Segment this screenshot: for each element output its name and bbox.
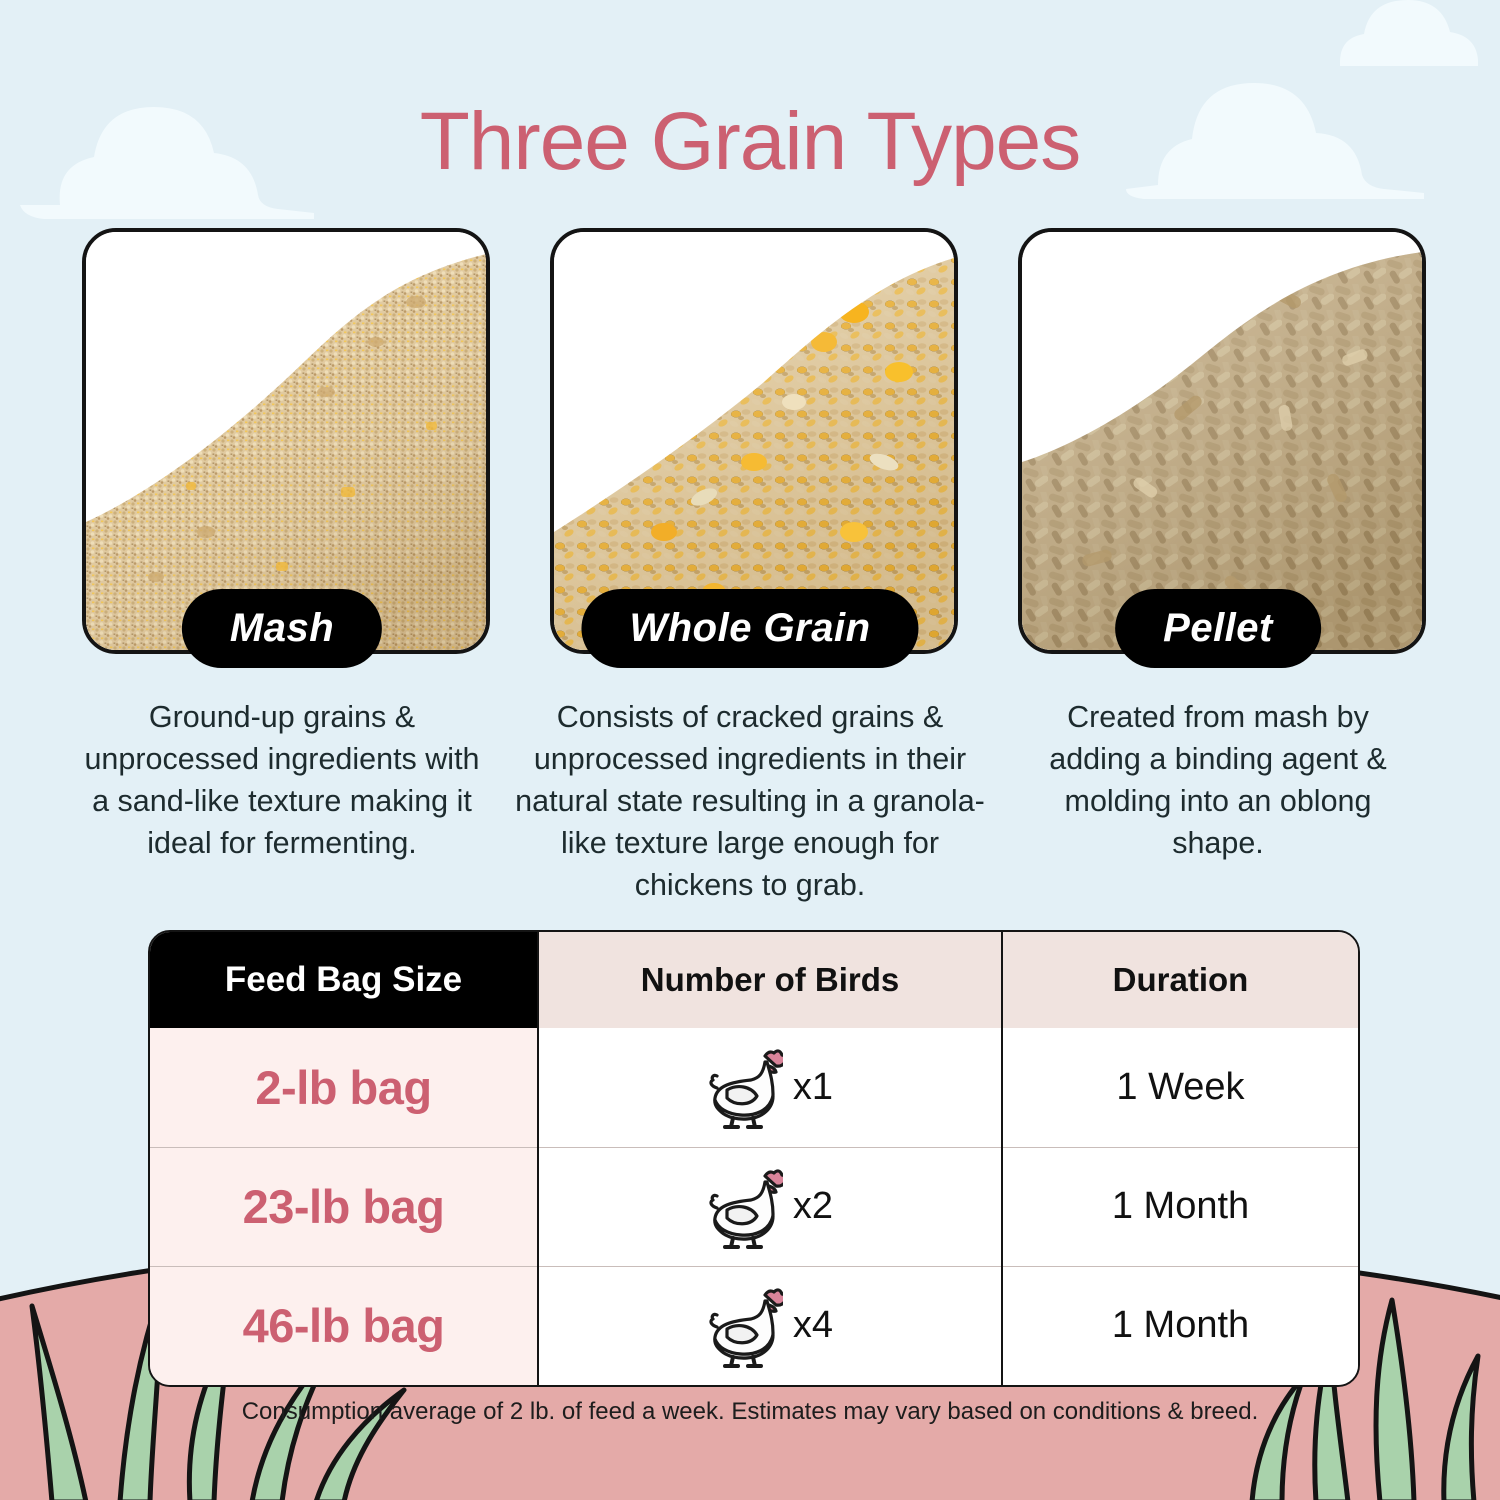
grain-card-mash[interactable]: Mash (82, 228, 482, 646)
column-header-feed-bag-size: Feed Bag Size (150, 932, 538, 1028)
grain-card-pellet[interactable]: Pellet (1018, 228, 1418, 646)
cell-number-of-birds: x4 (538, 1266, 1002, 1385)
cell-bag-size: 2-lb bag (150, 1028, 538, 1147)
pellet-photo (1022, 232, 1422, 650)
chicken-icon (707, 1164, 783, 1250)
grain-card-row: Mash (0, 228, 1500, 668)
cell-duration: 1 Month (1002, 1147, 1358, 1266)
grain-label-pellet: Pellet (1115, 589, 1321, 668)
chicken-icon (707, 1044, 783, 1130)
grain-label-whole-grain: Whole Grain (581, 589, 918, 668)
page-title: Three Grain Types (0, 95, 1500, 189)
chicken-icon (707, 1283, 783, 1369)
column-header-duration: Duration (1002, 932, 1358, 1028)
table-row: 2-lb bag (150, 1028, 1358, 1147)
grain-card-whole-grain[interactable]: Whole Grain (550, 228, 950, 646)
bird-count: x1 (793, 1066, 833, 1109)
column-header-number-of-birds: Number of Birds (538, 932, 1002, 1028)
feed-table: Feed Bag Size Number of Birds Duration 2… (148, 930, 1360, 1387)
bird-count: x4 (793, 1304, 833, 1347)
bird-count: x2 (793, 1185, 833, 1228)
grain-description-mash: Ground-up grains & unprocessed ingredien… (82, 696, 482, 906)
cell-duration: 1 Month (1002, 1266, 1358, 1385)
cell-bag-size: 23-lb bag (150, 1147, 538, 1266)
grain-description-whole-grain: Consists of cracked grains & unprocessed… (513, 696, 987, 906)
cell-bag-size: 46-lb bag (150, 1266, 538, 1385)
table-row: 23-lb bag (150, 1147, 1358, 1266)
grain-description-row: Ground-up grains & unprocessed ingredien… (0, 696, 1500, 906)
cloud-small-top (1340, 0, 1478, 66)
grain-label-mash: Mash (182, 589, 382, 668)
table-row: 46-lb bag (150, 1266, 1358, 1385)
mash-photo (86, 232, 486, 650)
infographic-root: Three Grain Types (0, 0, 1500, 1500)
grain-description-pellet: Created from mash by adding a binding ag… (1018, 696, 1418, 906)
cell-number-of-birds: x2 (538, 1147, 1002, 1266)
whole-grain-photo (554, 232, 954, 650)
cell-duration: 1 Week (1002, 1028, 1358, 1147)
cell-number-of-birds: x1 (538, 1028, 1002, 1147)
table-footnote: Consumption average of 2 lb. of feed a w… (0, 1398, 1500, 1426)
table-header-row: Feed Bag Size Number of Birds Duration (150, 932, 1358, 1028)
